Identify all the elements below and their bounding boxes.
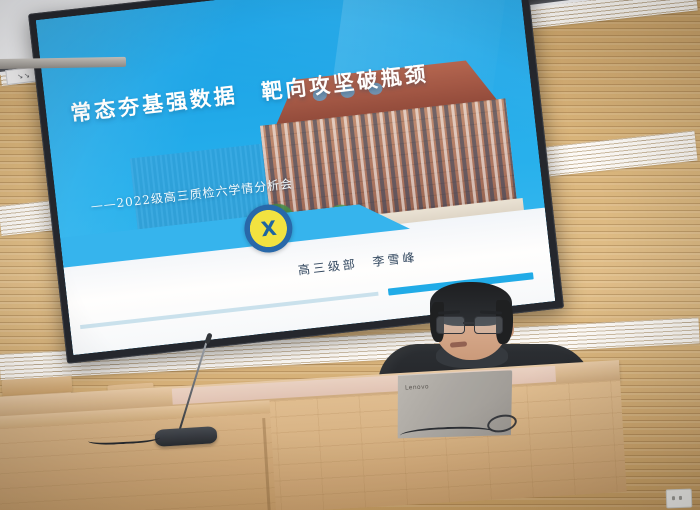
podium-desk-lower: [0, 400, 276, 510]
emblem-glyph: X: [256, 216, 281, 241]
screenshot-root: ↘↘: [0, 0, 700, 510]
glasses-bridge: [463, 322, 474, 324]
wall-power-outlet[interactable]: [666, 489, 693, 509]
glasses-lens-right: [474, 316, 503, 334]
glasses-lens-left: [436, 316, 465, 334]
laptop-brand-logo: Lenovo: [405, 383, 429, 391]
glasses-icon: [436, 316, 508, 332]
desk-lower-front: [0, 412, 276, 510]
